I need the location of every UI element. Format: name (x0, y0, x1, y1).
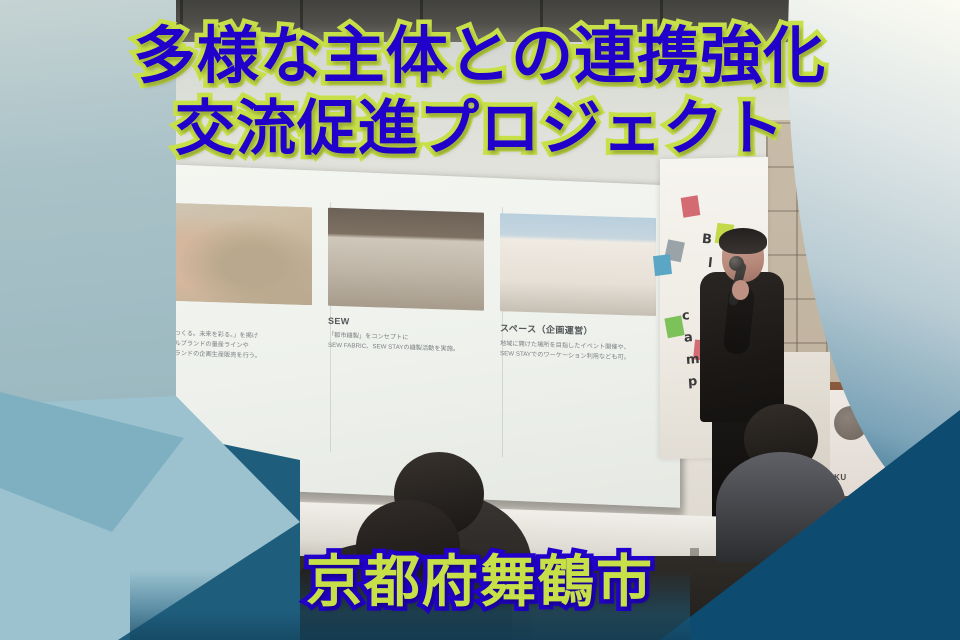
slide-heading: SEW (328, 316, 484, 331)
slide-image-building (500, 213, 656, 316)
slide-image-machiya (328, 208, 484, 311)
banner-letter: m (685, 352, 700, 368)
slide-column: SEW 「都市縫製」をコンセプトに SEW FABRIC、SEW STAYの縫製… (328, 208, 484, 370)
slide-body: 「服をつくる。未来を彩る。」を掲げ アパレルブランドの量産ラインや 自社ブランド… (156, 328, 312, 364)
deco-shape-left-top (0, 0, 176, 418)
slide-body: 地域に開けた場所を目指したイベント開催や、 SEW STAYでのワーケーション利… (500, 339, 656, 364)
banner-letter: p (687, 374, 697, 390)
banner-square (653, 254, 672, 276)
banner-letter: a (683, 330, 693, 346)
slide-heading: 縫製 (156, 310, 312, 328)
slide-image-sewing (156, 202, 312, 305)
slide-heading: スペース（企画運営） (500, 321, 656, 339)
microphone-head (729, 256, 744, 271)
slide-column: 縫製 「服をつくる。未来を彩る。」を掲げ アパレルブランドの量産ラインや 自社ブ… (156, 202, 312, 364)
slide-columns: 縫製 「服をつくる。未来を彩る。」を掲げ アパレルブランドの量産ラインや 自社ブ… (156, 202, 656, 374)
speaker-hair (719, 228, 767, 254)
thumbnail-stage: 縫製 「服をつくる。未来を彩る。」を掲げ アパレルブランドの量産ラインや 自社ブ… (0, 0, 960, 640)
speaker-hand (732, 280, 749, 300)
slide-body: 「都市縫製」をコンセプトに SEW FABRIC、SEW STAYの縫製活動を実… (328, 331, 484, 356)
banner-square (681, 195, 701, 217)
banner-letter: B (701, 232, 712, 248)
banner-letter: l (707, 256, 713, 271)
banner-letter: c (681, 308, 690, 324)
slide-column: スペース（企画運営） 地域に開けた場所を目指したイベント開催や、 SEW STA… (500, 213, 656, 375)
deco-bottom-gradient-band (130, 570, 690, 640)
